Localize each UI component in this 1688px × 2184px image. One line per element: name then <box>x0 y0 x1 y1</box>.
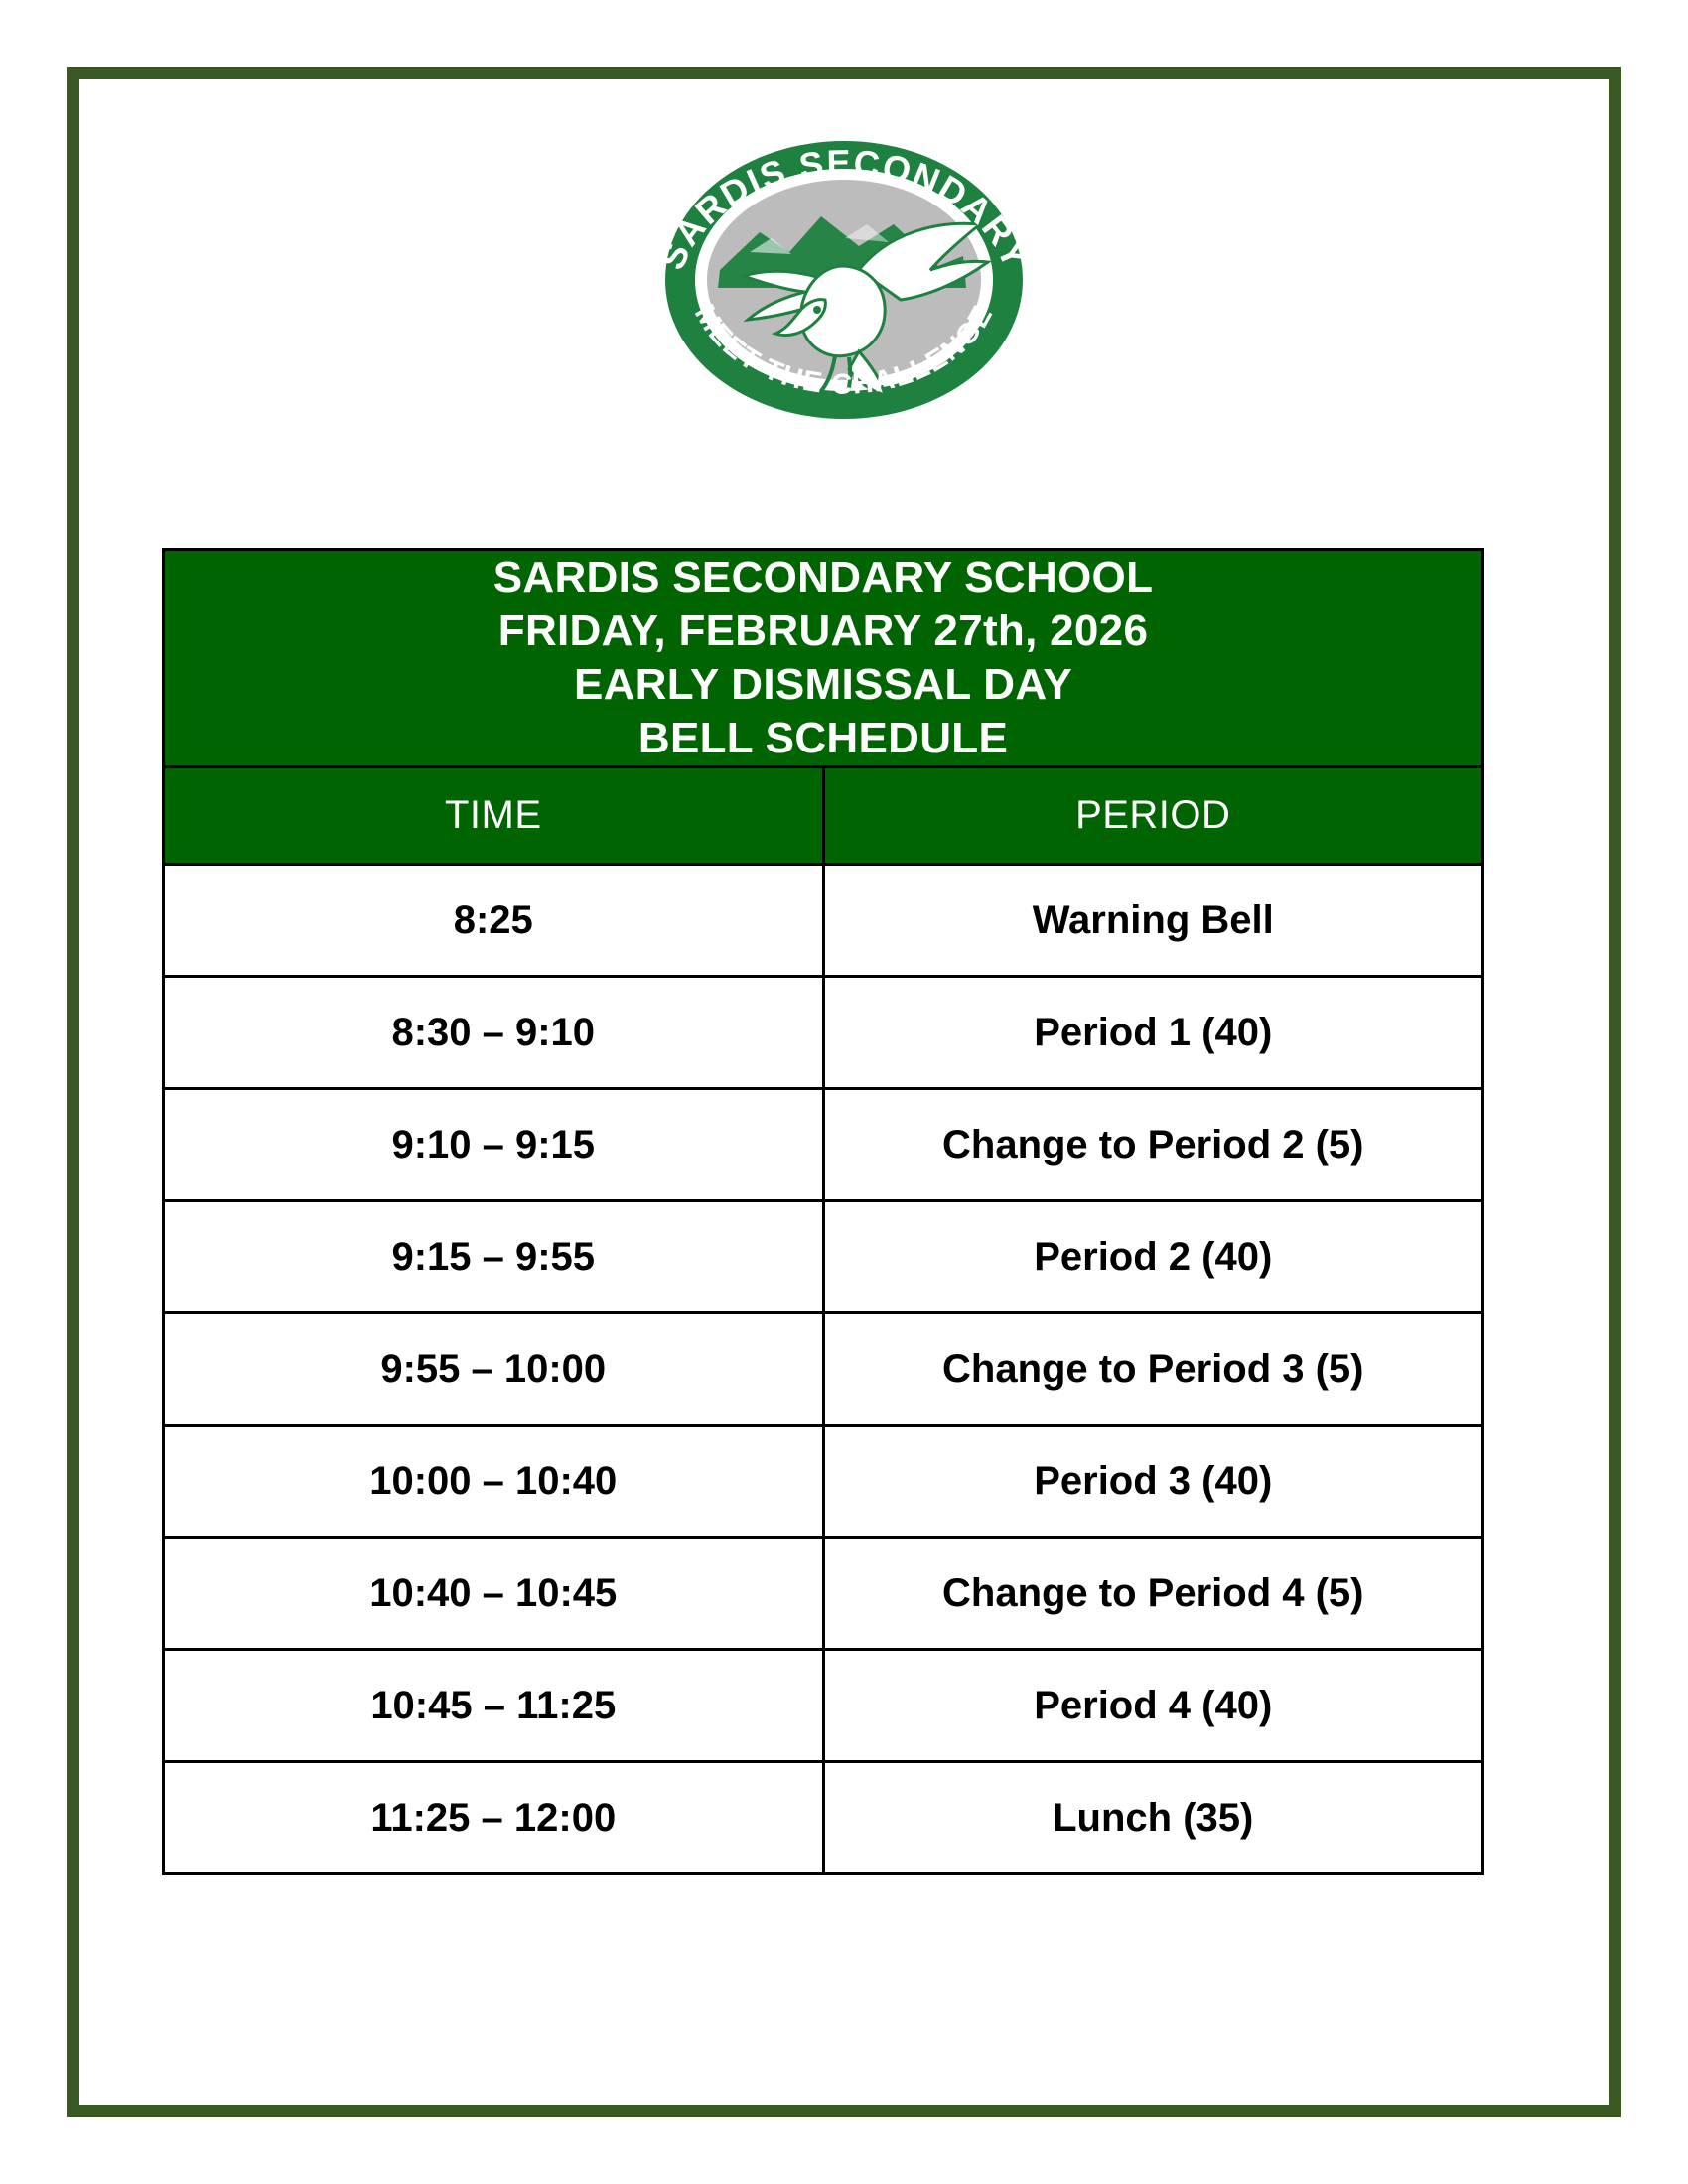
table-row: 9:10 – 9:15 Change to Period 2 (5) <box>164 1089 1483 1201</box>
row-period: Warning Bell <box>823 865 1483 977</box>
table-row: 8:30 – 9:10 Period 1 (40) <box>164 977 1483 1089</box>
row-period: Period 2 (40) <box>823 1201 1483 1313</box>
title-line-date: FRIDAY, FEBRUARY 27th, 2026 <box>165 605 1481 658</box>
row-period: Period 4 (40) <box>823 1650 1483 1762</box>
school-logo: SARDIS SECONDARY MEET THE CHALLENGE <box>0 121 1688 444</box>
row-time: 9:55 – 10:00 <box>164 1313 824 1426</box>
row-time: 10:45 – 11:25 <box>164 1650 824 1762</box>
table-row: 11:25 – 12:00 Lunch (35) <box>164 1762 1483 1874</box>
poster-page: SARDIS SECONDARY MEET THE CHALLENGE SARD… <box>0 0 1688 2184</box>
table-row: 8:25 Warning Bell <box>164 865 1483 977</box>
table-row: 9:15 – 9:55 Period 2 (40) <box>164 1201 1483 1313</box>
column-header-time: TIME <box>164 767 824 865</box>
sardis-crest-icon: SARDIS SECONDARY MEET THE CHALLENGE <box>611 121 1077 439</box>
row-period: Change to Period 4 (5) <box>823 1538 1483 1650</box>
row-time: 9:15 – 9:55 <box>164 1201 824 1313</box>
table-row: 10:45 – 11:25 Period 4 (40) <box>164 1650 1483 1762</box>
title-line-school: SARDIS SECONDARY SCHOOL <box>165 551 1481 605</box>
title-line-schedule: BELL SCHEDULE <box>165 712 1481 765</box>
bell-schedule-table: SARDIS SECONDARY SCHOOL FRIDAY, FEBRUARY… <box>162 548 1484 1875</box>
column-header-period: PERIOD <box>823 767 1483 865</box>
row-period: Change to Period 2 (5) <box>823 1089 1483 1201</box>
title-line-daytype: EARLY DISMISSAL DAY <box>165 658 1481 712</box>
row-period: Change to Period 3 (5) <box>823 1313 1483 1426</box>
row-period: Period 1 (40) <box>823 977 1483 1089</box>
table-row: 9:55 – 10:00 Change to Period 3 (5) <box>164 1313 1483 1426</box>
row-time: 8:30 – 9:10 <box>164 977 824 1089</box>
row-period: Lunch (35) <box>823 1762 1483 1874</box>
row-time: 11:25 – 12:00 <box>164 1762 824 1874</box>
table-row: 10:40 – 10:45 Change to Period 4 (5) <box>164 1538 1483 1650</box>
row-time: 9:10 – 9:15 <box>164 1089 824 1201</box>
poster-title: SARDIS SECONDARY SCHOOL FRIDAY, FEBRUARY… <box>164 550 1483 767</box>
row-period: Period 3 (40) <box>823 1426 1483 1538</box>
row-time: 8:25 <box>164 865 824 977</box>
row-time: 10:00 – 10:40 <box>164 1426 824 1538</box>
table-row: 10:00 – 10:40 Period 3 (40) <box>164 1426 1483 1538</box>
title-row: SARDIS SECONDARY SCHOOL FRIDAY, FEBRUARY… <box>164 550 1483 767</box>
row-time: 10:40 – 10:45 <box>164 1538 824 1650</box>
column-header-row: TIME PERIOD <box>164 767 1483 865</box>
